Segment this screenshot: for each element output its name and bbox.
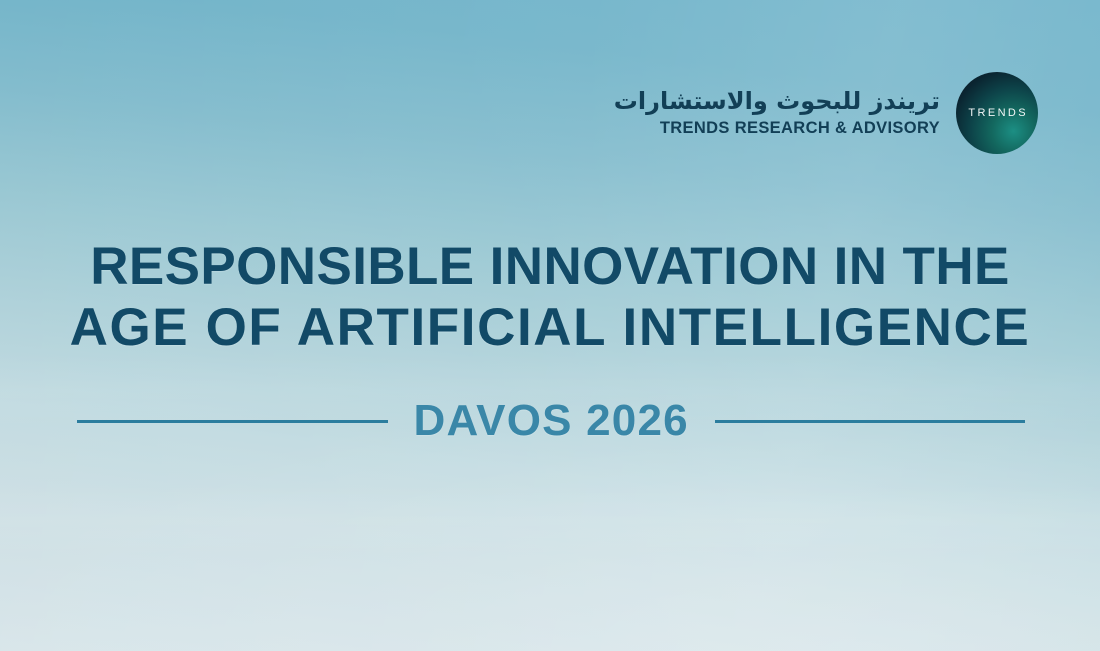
subtitle-rule-right — [715, 420, 1026, 423]
logo-english-name: TRENDS RESEARCH & ADVISORY — [614, 120, 940, 137]
subtitle-rule-left — [77, 420, 388, 423]
trends-sphere-icon: TRENDS — [956, 72, 1038, 154]
trends-logo-lockup: تريندز للبحوث والاستشارات TRENDS RESEARC… — [614, 72, 1038, 154]
logo-arabic-name: تريندز للبحوث والاستشارات — [614, 89, 940, 113]
headline-line-1: RESPONSIBLE INNOVATION IN THE — [0, 236, 1100, 297]
logo-mark-label: TRENDS — [966, 107, 1028, 119]
subtitle-text: DAVOS 2026 — [414, 396, 689, 446]
headline-line-2: AGE OF ARTIFICIAL INTELLIGENCE — [0, 297, 1100, 358]
event-banner: تريندز للبحوث والاستشارات TRENDS RESEARC… — [0, 0, 1100, 651]
subtitle-row: DAVOS 2026 — [77, 396, 1025, 446]
logo-wordmark: تريندز للبحوث والاستشارات TRENDS RESEARC… — [614, 89, 940, 137]
page-title: RESPONSIBLE INNOVATION IN THE AGE OF ART… — [0, 236, 1100, 359]
